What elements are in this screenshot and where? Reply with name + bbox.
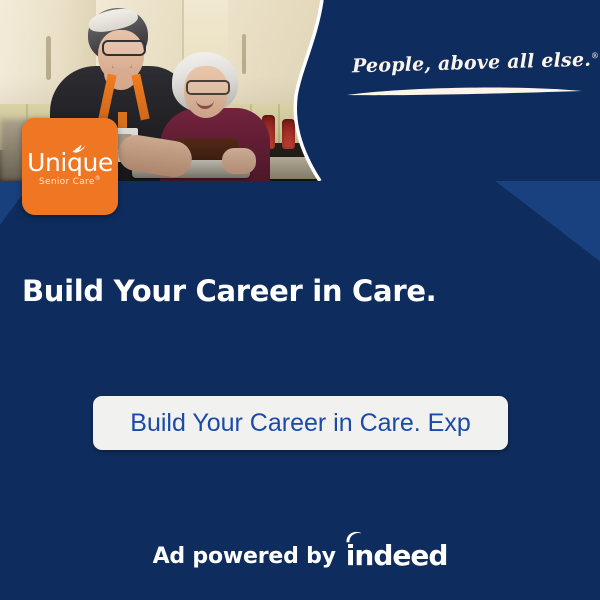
indeed-arc-icon xyxy=(345,531,362,543)
body-panel xyxy=(0,181,600,600)
ad-footer: Ad powered by indeed xyxy=(0,542,600,570)
cta-button[interactable]: Build Your Career in Care. Exp xyxy=(93,396,508,450)
ad-powered-by-label: Ad powered by xyxy=(153,544,336,569)
unique-senior-care-logo[interactable]: Unique Senior Care® xyxy=(22,118,118,215)
advertisement-banner[interactable]: People, above all else.® Unique Senior C… xyxy=(0,0,600,600)
photo-senior-glasses xyxy=(186,80,230,95)
photo-caregiver-glasses xyxy=(102,40,146,56)
logo-registered-mark: ® xyxy=(95,175,101,182)
indeed-wordmark: indeed xyxy=(346,539,448,572)
photo-bottle xyxy=(302,113,315,149)
photo-cabinet-right xyxy=(228,0,340,104)
logo-wordmark: Unique xyxy=(22,148,118,177)
photo-bottle xyxy=(282,119,295,149)
tagline-registered-mark: ® xyxy=(591,51,599,60)
decorative-wedge-right xyxy=(490,181,600,269)
photo-senior-hand xyxy=(222,148,256,174)
tagline-swash-icon xyxy=(345,84,585,100)
logo-subtitle: Senior Care® xyxy=(22,175,118,187)
indeed-logo[interactable]: indeed xyxy=(346,542,448,570)
ad-headline: Build Your Career in Care. xyxy=(22,274,436,308)
logo-subtitle-text: Senior Care xyxy=(39,177,95,187)
